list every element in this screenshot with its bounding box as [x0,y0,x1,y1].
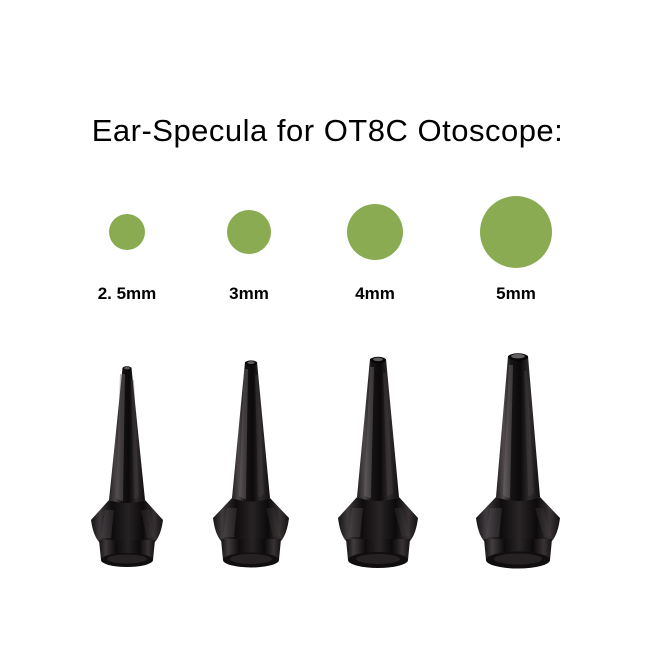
size-dot-cell [199,196,299,276]
size-label-5mm: 5mm [466,284,566,304]
specula-2-5mm [75,360,179,570]
size-dot-cell [466,196,566,276]
size-dots-row [0,196,655,276]
page-title: Ear-Specula for OT8C Otoscope: [0,113,655,149]
size-dot-cell [77,196,177,276]
specula-photo-row [0,340,655,570]
size-dot-3mm [227,210,271,254]
product-image-canvas: Ear-Specula for OT8C Otoscope: 2. 5mm 3m… [0,0,655,655]
specula-3mm [196,356,306,570]
size-dot-cell [325,196,425,276]
size-dot-5mm [480,196,552,268]
size-label-4mm: 4mm [325,284,425,304]
size-label-2-5mm: 2. 5mm [77,284,177,304]
size-label-3mm: 3mm [199,284,299,304]
size-dot-2-5mm [109,214,145,250]
specula-4mm [320,354,436,570]
size-labels-row: 2. 5mm 3mm 4mm 5mm [0,284,655,308]
specula-5mm [457,352,579,570]
size-dot-4mm [347,204,403,260]
